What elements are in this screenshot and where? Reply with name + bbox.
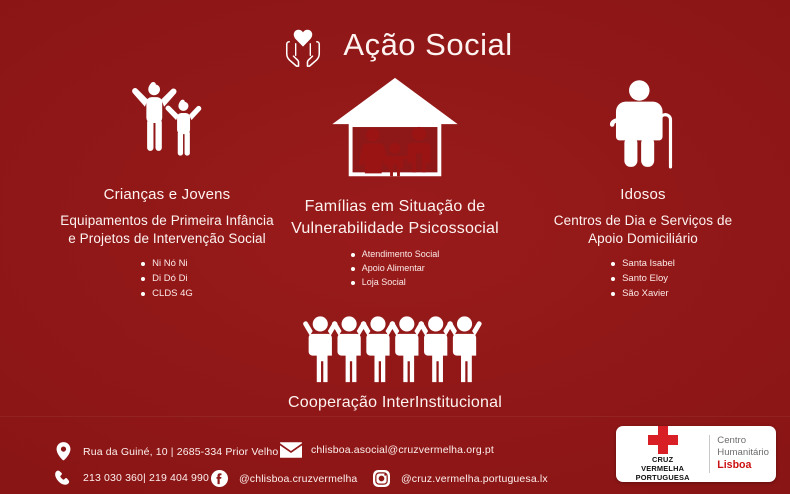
elderly-person-with-cane-icon <box>508 76 778 172</box>
footer-phone-text: 213 030 360| 219 404 990 <box>83 472 209 484</box>
column-title: Idosos <box>508 186 778 203</box>
footer: Rua da Guiné, 10 | 2685-334 Prior Velho … <box>0 416 790 494</box>
heart-in-hands-icon <box>277 19 329 71</box>
column-bullet-list: Atendimento Social Apoio Alimentar Loja … <box>351 248 440 290</box>
list-item: São Xavier <box>611 287 675 302</box>
service-column-children: Crianças e Jovens Equipamentos de Primei… <box>22 76 312 302</box>
logo-sub-line-1: Centro <box>717 435 769 447</box>
list-item: Ni Nó Ni <box>141 257 193 272</box>
logo-centre-name: Centro Humanitário Lisboa <box>717 435 769 473</box>
list-item: Atendimento Social <box>351 248 440 262</box>
list-item: Di Dó Di <box>141 272 193 287</box>
family-house-icon <box>272 72 518 182</box>
column-title: Famílias em Situação deVulnerabilidade P… <box>272 196 518 239</box>
service-column-families: Famílias em Situação deVulnerabilidade P… <box>272 72 518 290</box>
footer-instagram[interactable]: @cruz.vermelha.portuguesa.lx <box>370 470 548 487</box>
page-title: Ação Social <box>0 0 790 76</box>
logo-divider <box>709 435 710 473</box>
list-item: Loja Social <box>351 276 440 290</box>
children-raising-arms-icon <box>22 76 312 172</box>
footer-address-text: Rua da Guiné, 10 | 2685-334 Prior Velho <box>83 446 278 458</box>
logo-word-line-1: CRUZ <box>636 455 690 464</box>
logo-cruz-vermelha: CRUZ VERMELHA PORTUGUESA <box>623 426 702 483</box>
logo-word-line-2: VERMELHA <box>636 464 690 473</box>
phone-icon <box>52 470 74 486</box>
column-bullet-list: Ni Nó Ni Di Dó Di CLDS 4G <box>141 257 193 301</box>
list-item: Santa Isabel <box>611 257 675 272</box>
column-subtitle: Centros de Dia e Serviços deApoio Domici… <box>508 212 778 248</box>
column-title: Crianças e Jovens <box>22 186 312 203</box>
cooperation-block: Cooperação InterInstitucional <box>0 312 790 412</box>
cooperation-title: Cooperação InterInstitucional <box>0 394 790 412</box>
red-cross-icon <box>646 426 680 454</box>
footer-instagram-text: @cruz.vermelha.portuguesa.lx <box>401 473 548 485</box>
organization-logo: CRUZ VERMELHA PORTUGUESA Centro Humanitá… <box>616 426 776 482</box>
footer-address: Rua da Guiné, 10 | 2685-334 Prior Velho <box>52 442 278 461</box>
column-bullet-list: Santa Isabel Santo Eloy São Xavier <box>611 257 675 301</box>
list-item: Santo Eloy <box>611 272 675 287</box>
envelope-icon <box>280 442 302 458</box>
footer-facebook-text: @chlisboa.cruzvermelha <box>239 473 357 485</box>
footer-phone: 213 030 360| 219 404 990 <box>52 470 209 486</box>
poster-root: Ação Social <box>0 0 790 494</box>
logo-word-line-3: PORTUGUESA <box>636 473 690 482</box>
page-title-text: Ação Social <box>343 27 512 63</box>
logo-wordmark: CRUZ VERMELHA PORTUGUESA <box>636 455 690 483</box>
logo-sub-line-2: Humanitário <box>717 447 769 459</box>
footer-facebook[interactable]: @chlisboa.cruzvermelha <box>208 470 357 487</box>
logo-sub-line-3: Lisboa <box>717 459 769 472</box>
people-holding-hands-icon <box>0 312 790 384</box>
footer-email-text: chlisboa.asocial@cruzvermelha.org.pt <box>311 444 494 456</box>
location-pin-icon <box>52 442 74 461</box>
service-columns: Crianças e Jovens Equipamentos de Primei… <box>0 76 790 288</box>
facebook-icon <box>208 470 230 487</box>
footer-email[interactable]: chlisboa.asocial@cruzvermelha.org.pt <box>280 442 494 458</box>
list-item: CLDS 4G <box>141 287 193 302</box>
footer-divider <box>0 416 790 417</box>
column-subtitle: Equipamentos de Primeira Infânciae Proje… <box>22 212 312 248</box>
list-item: Apoio Alimentar <box>351 262 440 276</box>
service-column-elderly: Idosos Centros de Dia e Serviços deApoio… <box>508 76 778 302</box>
instagram-icon <box>370 470 392 487</box>
